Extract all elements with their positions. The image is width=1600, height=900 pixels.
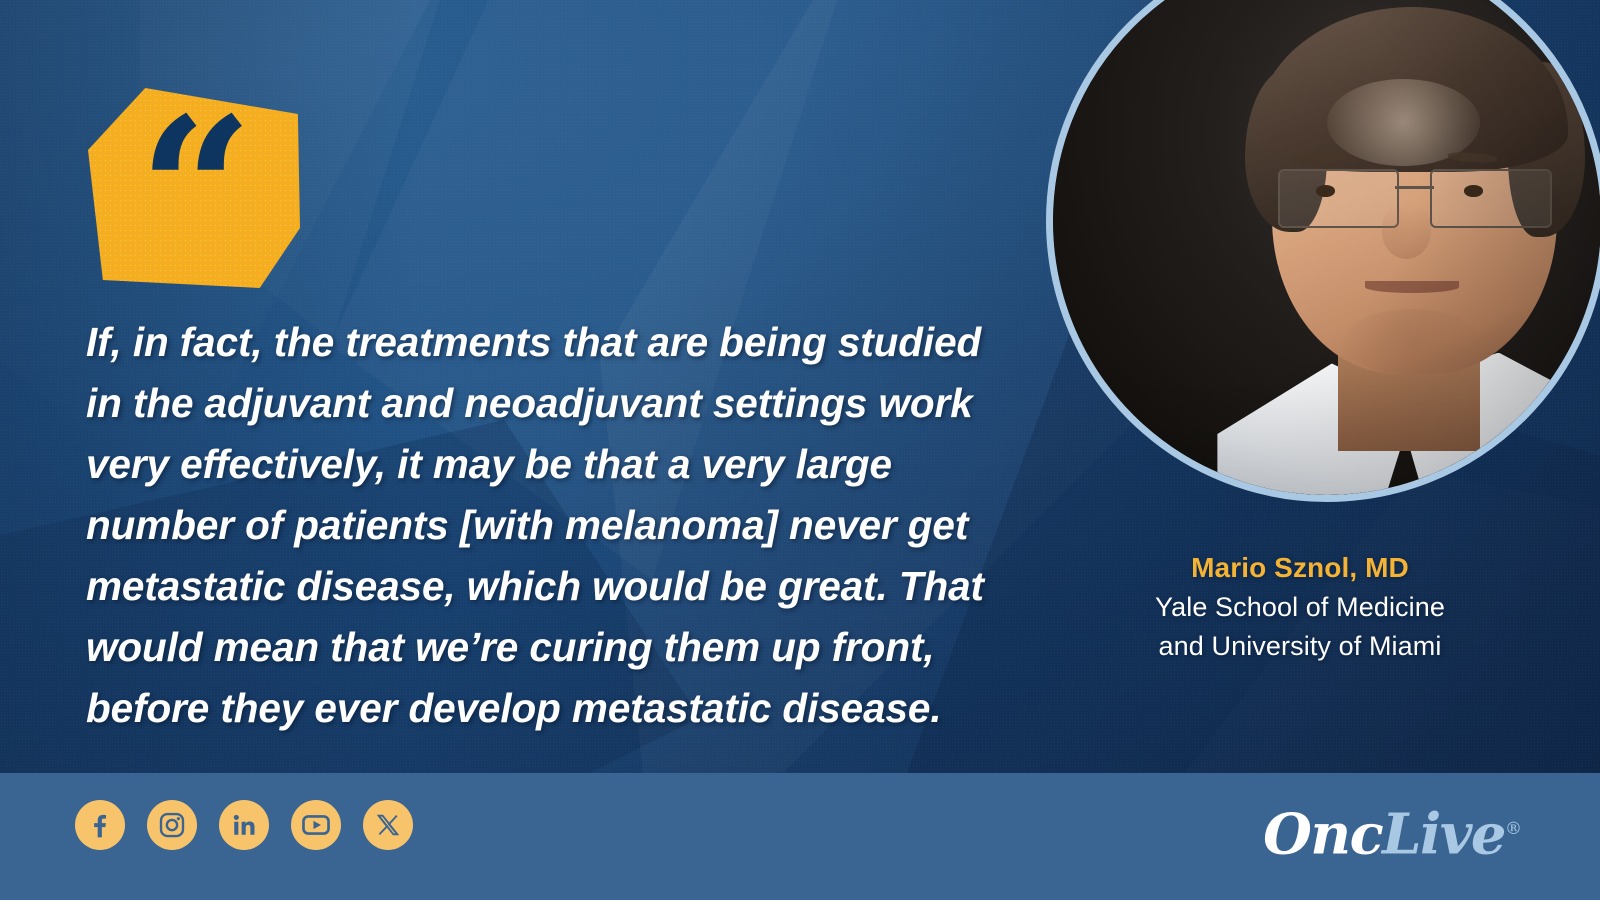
onclive-logo: OncLive® — [1263, 797, 1522, 867]
quote-line: very effectively, it may be that a very … — [86, 441, 892, 487]
quote-card: “ If, in fact, the treatments that are b… — [0, 0, 1600, 900]
quote-line: would mean that we’re curing them up fro… — [86, 624, 935, 670]
youtube-icon[interactable] — [291, 800, 341, 850]
quote-line: before they ever develop metastatic dise… — [86, 685, 942, 731]
logo-onc: Onc — [1263, 802, 1382, 868]
quote-mark-badge: “ — [88, 88, 300, 288]
quote-line: If, in fact, the treatments that are bei… — [86, 319, 981, 365]
x-icon[interactable] — [363, 800, 413, 850]
attribution: Mario Sznol, MD Yale School of Medicine … — [1040, 548, 1560, 666]
social-links — [75, 800, 413, 850]
logo-live: Live — [1382, 802, 1505, 868]
linkedin-icon[interactable] — [219, 800, 269, 850]
quotation-mark-icon: “ — [138, 130, 249, 254]
speaker-affiliation-line-1: Yale School of Medicine — [1040, 588, 1560, 627]
speaker-affiliation-line-2: and University of Miami — [1040, 627, 1560, 666]
speaker-name: Mario Sznol, MD — [1040, 548, 1560, 588]
portrait-photo — [1053, 0, 1600, 495]
registered-trademark-icon: ® — [1505, 819, 1522, 839]
instagram-icon[interactable] — [147, 800, 197, 850]
facebook-icon[interactable] — [75, 800, 125, 850]
quote-text: If, in fact, the treatments that are bei… — [86, 312, 1016, 739]
quote-line: metastatic disease, which would be great… — [86, 563, 984, 609]
footer-bar: OncLive® — [0, 773, 1600, 900]
quote-line: in the adjuvant and neoadjuvant settings… — [86, 380, 973, 426]
quote-line: number of patients [with melanoma] never… — [86, 502, 968, 548]
